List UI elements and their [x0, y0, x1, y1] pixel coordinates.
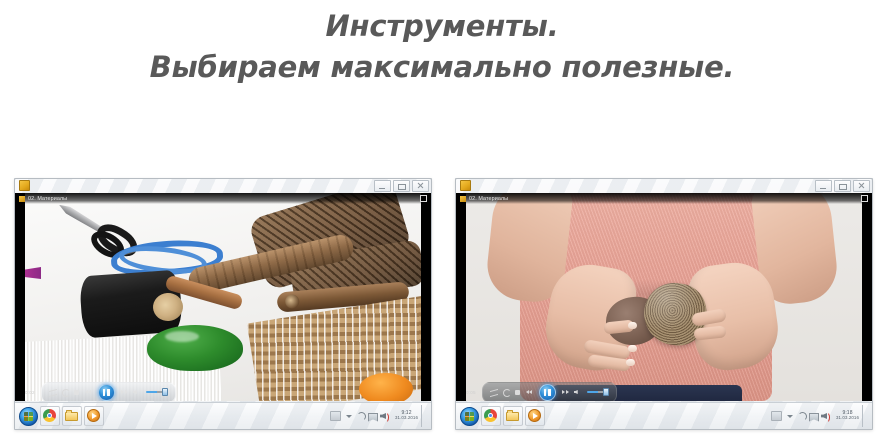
system-tray[interactable]: [330, 411, 391, 421]
stop-icon[interactable]: [514, 388, 522, 396]
windows-taskbar[interactable]: 9:12 31.03.2016: [15, 402, 431, 429]
elapsed-time: 0:02: [25, 390, 35, 395]
taskbar-clock[interactable]: 9:18 31.03.2016: [836, 411, 859, 422]
media-player-icon: [19, 180, 30, 191]
minimize-button[interactable]: [815, 180, 832, 192]
start-orb[interactable]: [19, 407, 38, 426]
pillarbox-right: [862, 193, 872, 401]
media-player-icon: [460, 180, 471, 191]
show-desktop-button[interactable]: [421, 405, 427, 427]
taskbar-pinned-items[interactable]: [460, 406, 545, 426]
window-titlebar[interactable]: [14, 178, 432, 193]
show-desktop-button[interactable]: [862, 405, 868, 427]
network-icon[interactable]: [797, 412, 806, 421]
page-title-line-2: Выбираем максимально полезные.: [0, 47, 884, 88]
shuffle-icon[interactable]: [49, 388, 57, 396]
fullscreen-icon[interactable]: [861, 195, 868, 202]
previous-icon[interactable]: [85, 388, 93, 396]
explorer-icon[interactable]: [62, 406, 82, 426]
taskbar-clock[interactable]: 9:12 31.03.2016: [395, 411, 418, 422]
video-stage[interactable]: 02. Материалы 0:05: [456, 193, 872, 401]
maximize-button[interactable]: [834, 180, 851, 192]
close-button[interactable]: [853, 180, 870, 192]
volume-slider[interactable]: [146, 388, 168, 396]
next-icon[interactable]: [120, 388, 128, 396]
close-button[interactable]: [412, 180, 429, 192]
tray-arrow-icon[interactable]: [344, 412, 353, 421]
action-center-flag-icon[interactable]: [809, 412, 818, 421]
tray-arrow-icon[interactable]: [785, 412, 794, 421]
player-control-bar[interactable]: 0:05: [466, 385, 862, 399]
pillarbox-left: [456, 193, 466, 401]
volume-slider[interactable]: [587, 388, 609, 396]
action-center-flag-icon[interactable]: [368, 412, 377, 421]
media-player-window-right[interactable]: 02. Материалы 0:05: [455, 178, 873, 430]
media-player-icon[interactable]: [525, 406, 545, 426]
minimize-button[interactable]: [374, 180, 391, 192]
video-frame-tools: [15, 193, 431, 401]
player-control-bar[interactable]: 0:02: [25, 385, 421, 399]
chrome-icon[interactable]: [481, 406, 501, 426]
video-frame-hands: [456, 193, 872, 401]
pillarbox-left: [15, 193, 25, 401]
next-icon[interactable]: [561, 388, 569, 396]
shuffle-icon[interactable]: [490, 388, 498, 396]
chrome-icon[interactable]: [40, 406, 60, 426]
start-orb[interactable]: [460, 407, 479, 426]
pause-icon[interactable]: [539, 384, 556, 401]
media-player-icon[interactable]: [84, 406, 104, 426]
fullscreen-icon[interactable]: [420, 195, 427, 202]
repeat-icon[interactable]: [502, 388, 510, 396]
window-controls[interactable]: [374, 180, 429, 192]
speaker-muted-icon[interactable]: [380, 412, 389, 421]
tray-overflow-chip[interactable]: [771, 411, 782, 421]
media-player-window-left[interactable]: 02. Материалы 0:02: [14, 178, 432, 430]
green-tool-object: [147, 325, 243, 371]
mute-icon[interactable]: [573, 388, 581, 396]
transport-controls[interactable]: [482, 382, 617, 402]
clock-date: 31.03.2016: [395, 416, 418, 421]
network-icon[interactable]: [356, 412, 365, 421]
pillarbox-right: [421, 193, 431, 401]
speaker-muted-icon[interactable]: [821, 412, 830, 421]
taskbar-pinned-items[interactable]: [19, 406, 104, 426]
pause-icon[interactable]: [98, 384, 115, 401]
tray-overflow-chip[interactable]: [330, 411, 341, 421]
maximize-button[interactable]: [393, 180, 410, 192]
repeat-icon[interactable]: [61, 388, 69, 396]
previous-icon[interactable]: [526, 388, 534, 396]
explorer-icon[interactable]: [503, 406, 523, 426]
transport-controls[interactable]: [41, 382, 176, 402]
windows-taskbar[interactable]: 9:18 31.03.2016: [456, 402, 872, 429]
mute-icon[interactable]: [132, 388, 140, 396]
system-tray[interactable]: [771, 411, 832, 421]
window-titlebar[interactable]: [455, 178, 873, 193]
stop-icon[interactable]: [73, 388, 81, 396]
clock-date: 31.03.2016: [836, 416, 859, 421]
page-title-line-1: Инструменты.: [0, 6, 884, 47]
video-stage[interactable]: 02. Материалы 0:02: [15, 193, 431, 401]
elapsed-time: 0:05: [466, 390, 476, 395]
window-controls[interactable]: [815, 180, 870, 192]
page-title: Инструменты. Выбираем максимально полезн…: [0, 0, 884, 88]
